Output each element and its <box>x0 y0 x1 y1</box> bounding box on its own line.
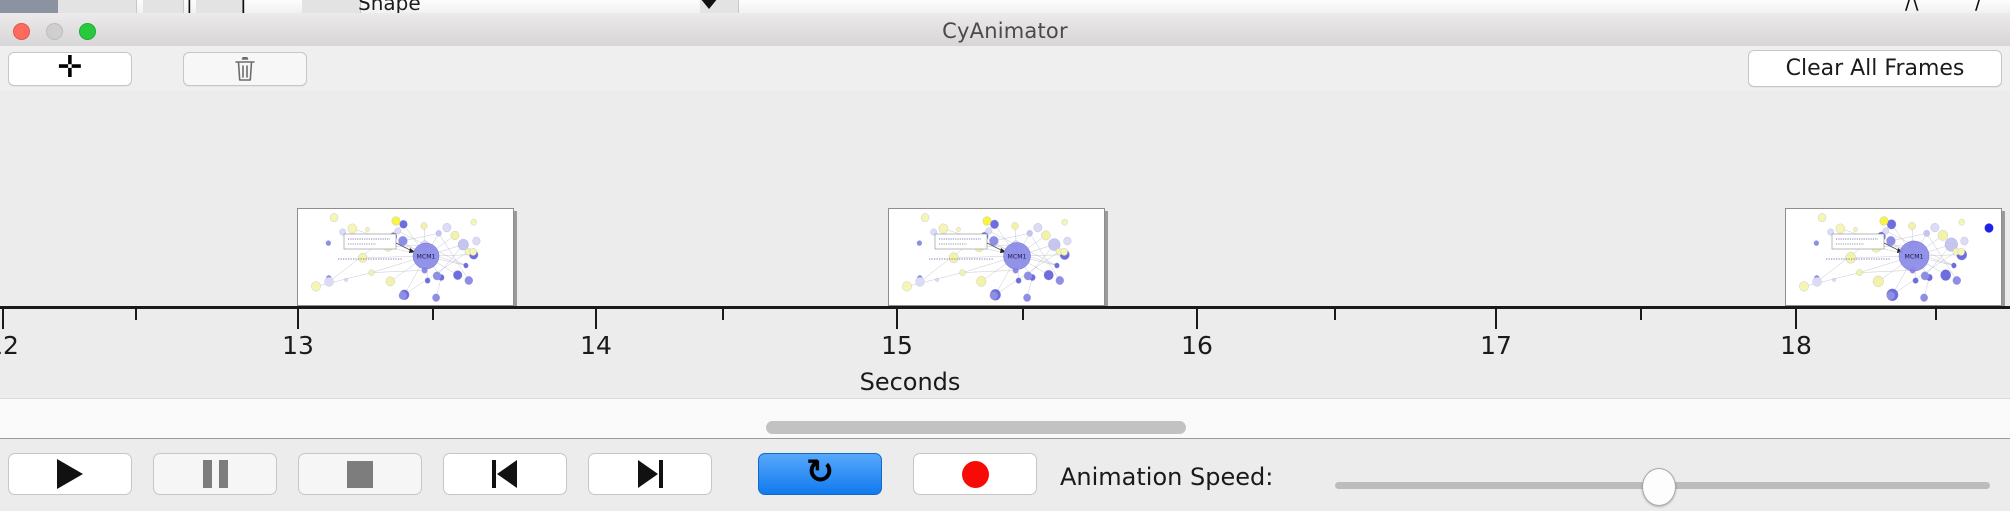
ruler-tick <box>1640 309 1642 320</box>
ruler-tick <box>432 309 434 320</box>
record-icon <box>962 461 989 488</box>
clear-all-frames-button[interactable]: Clear All Frames <box>1748 50 2002 87</box>
ruler-tick-label: 14 <box>580 331 612 360</box>
record-button[interactable] <box>913 453 1037 495</box>
play-icon <box>57 459 83 489</box>
bg-chip <box>0 0 59 13</box>
timeline-frame[interactable]: MCM1 <box>888 208 1105 306</box>
ruler-tick <box>297 309 299 329</box>
timeline-frame[interactable]: MCM1 <box>1785 208 2002 306</box>
bg-chip <box>196 0 243 13</box>
play-button[interactable] <box>8 453 132 495</box>
toolbar: ✛ Clear All Frames <box>0 46 2010 92</box>
ruler-tick-label: 12 <box>0 331 19 360</box>
stop-icon <box>347 461 373 488</box>
timeline-frame[interactable]: MCM1 <box>297 208 514 306</box>
animation-speed-slider[interactable] <box>1335 482 1990 489</box>
cyanimator-window: | | Shape /\ / CyAnimator ✛ Clear All Fr… <box>0 0 2010 510</box>
frame-track[interactable]: MCM1MCM1MCM1 <box>0 91 2010 306</box>
ruler-tick <box>1022 309 1024 320</box>
title-bar: CyAnimator <box>0 13 2010 47</box>
ruler-tick <box>1196 309 1198 329</box>
ruler-tick-label: 16 <box>1181 331 1213 360</box>
timeline-ruler[interactable]: Seconds 12131415161718 <box>0 306 2010 398</box>
ruler-tick-label: 13 <box>282 331 314 360</box>
animation-speed-label: Animation Speed: <box>1060 463 1273 491</box>
axis-title: Seconds <box>0 368 2010 396</box>
ruler-tick <box>722 309 724 320</box>
stop-button[interactable] <box>298 453 422 495</box>
ruler-tick <box>1795 309 1797 329</box>
ruler-tick <box>595 309 597 329</box>
ruler-tick <box>896 309 898 329</box>
step-forward-button[interactable] <box>588 453 712 495</box>
ruler-baseline <box>0 306 2010 309</box>
ruler-tick-label: 18 <box>1780 331 1812 360</box>
loop-button[interactable]: ↻ <box>758 453 882 495</box>
bg-chip <box>302 0 361 13</box>
ruler-tick <box>2 309 4 329</box>
ruler-tick <box>1935 309 1937 320</box>
skip-next-icon <box>637 460 663 488</box>
trash-icon <box>234 56 256 82</box>
slider-thumb[interactable] <box>1642 468 1676 506</box>
pause-icon <box>203 460 228 488</box>
plus-icon: ✛ <box>57 53 82 83</box>
ruler-tick-label: 15 <box>881 331 913 360</box>
playback-controls: ↻ Animation Speed: <box>0 438 2010 511</box>
skip-previous-icon <box>492 460 518 488</box>
svg-text:MCM1: MCM1 <box>1008 253 1027 260</box>
bg-chip <box>58 0 137 13</box>
ruler-tick <box>135 309 137 320</box>
ruler-tick <box>1495 309 1497 329</box>
svg-text:MCM1: MCM1 <box>417 253 436 260</box>
svg-text:MCM1: MCM1 <box>1905 253 1924 260</box>
step-back-button[interactable] <box>443 453 567 495</box>
window-title: CyAnimator <box>0 19 2010 43</box>
horizontal-scrollbar-thumb[interactable] <box>766 421 1186 434</box>
background-window-label: Shape <box>358 0 421 14</box>
pause-button[interactable] <box>153 453 277 495</box>
add-frame-button[interactable]: ✛ <box>8 52 132 86</box>
bg-chip <box>143 0 184 13</box>
loop-icon: ↻ <box>806 455 835 489</box>
background-window-strip: | | Shape /\ / <box>0 0 2010 14</box>
delete-frame-button[interactable] <box>183 52 307 86</box>
ruler-tick-label: 17 <box>1480 331 1512 360</box>
horizontal-scrollbar[interactable] <box>0 398 2010 439</box>
ruler-tick <box>1334 309 1336 320</box>
